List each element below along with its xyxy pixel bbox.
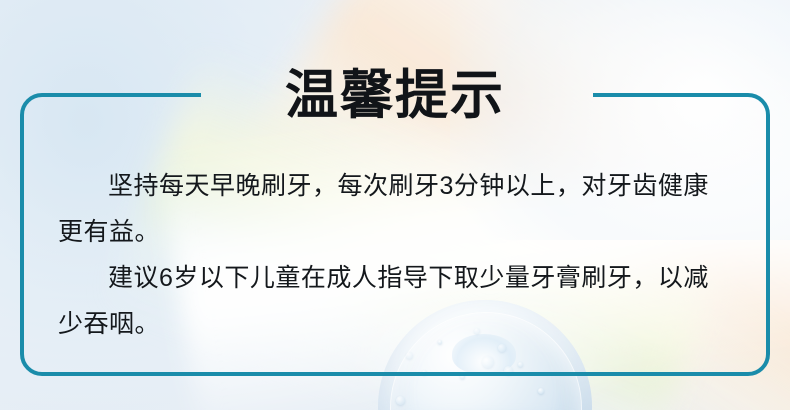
water-droplet — [396, 396, 405, 405]
water-droplet — [518, 362, 523, 367]
promo-banner: 温馨提示 坚持每天早晚刷牙，每次刷牙3分钟以上，对牙齿健康更有益。 建议6岁以下… — [0, 0, 790, 410]
tip-paragraph-1: 坚持每天早晚刷牙，每次刷牙3分钟以上，对牙齿健康更有益。 — [58, 163, 734, 255]
water-droplet — [538, 388, 544, 394]
water-droplet — [406, 352, 413, 359]
water-droplet — [482, 356, 494, 368]
water-droplet — [460, 374, 465, 379]
tip-paragraph-2: 建议6岁以下儿童在成人指导下取少量牙膏刷牙，以减少吞咽。 — [58, 255, 734, 347]
page-title: 温馨提示 — [0, 66, 790, 125]
water-droplet — [422, 370, 427, 375]
water-droplet — [504, 366, 513, 375]
tips-body: 坚持每天早晚刷牙，每次刷牙3分钟以上，对牙齿健康更有益。 建议6岁以下儿童在成人… — [58, 163, 734, 347]
